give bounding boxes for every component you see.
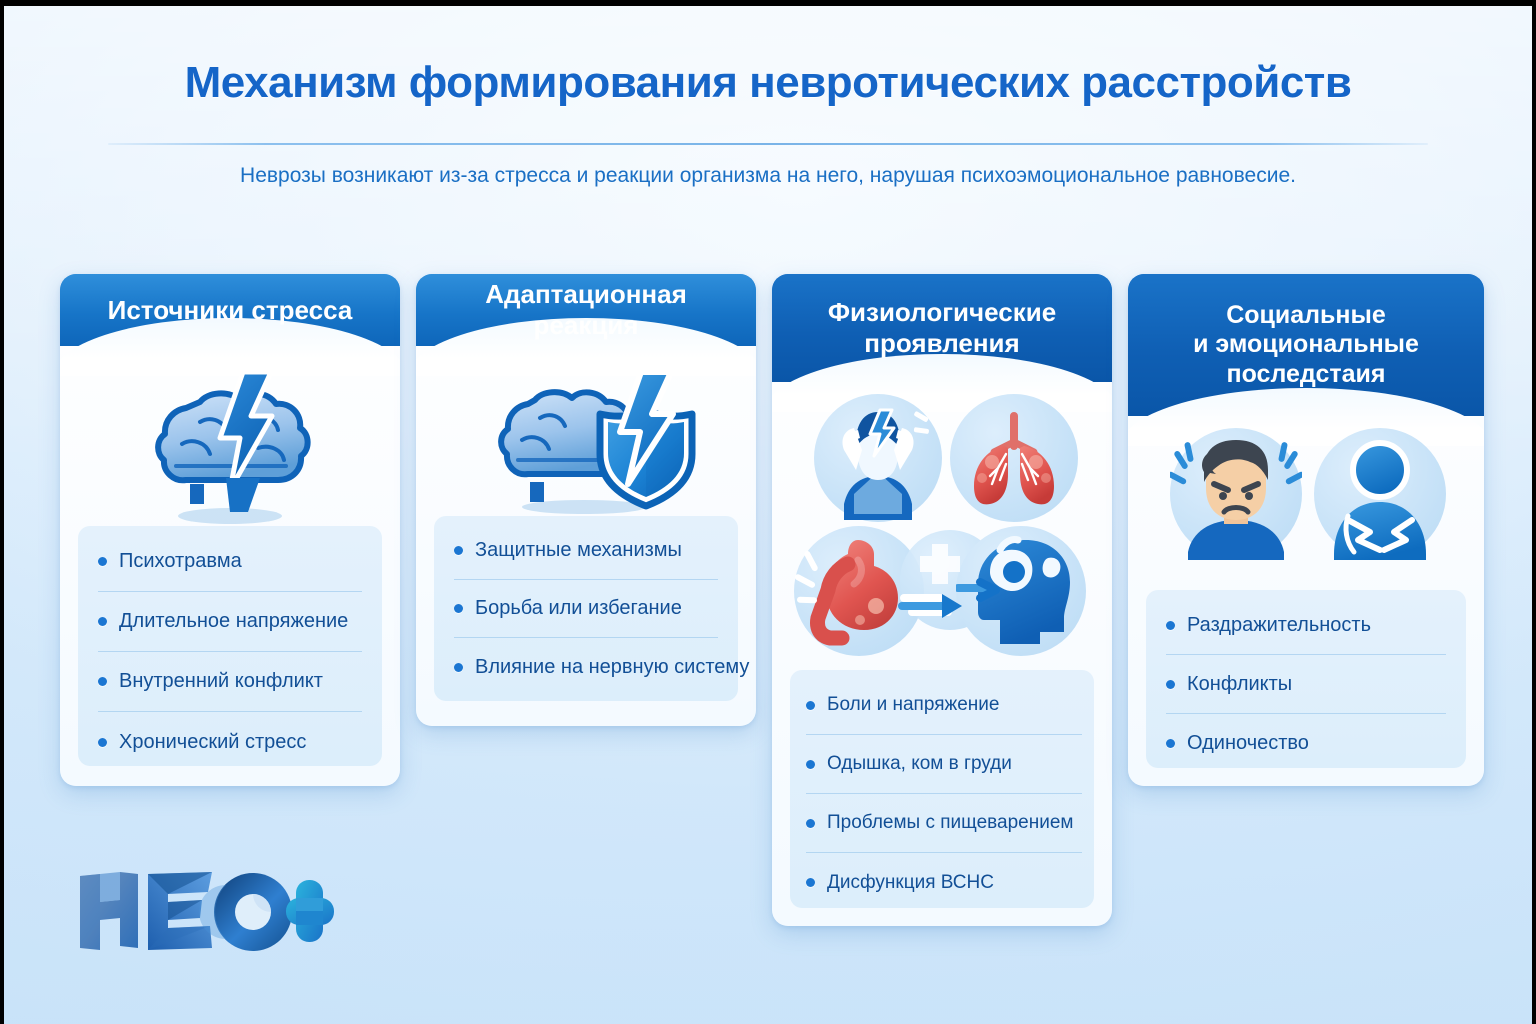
list-item-label: Хронический стресс (119, 731, 306, 754)
list-item-label: Конфликты (1187, 673, 1292, 696)
list-item[interactable]: Раздражительность (1166, 596, 1446, 655)
card-header-physiological-manifestations: Физиологические проявления (772, 274, 1112, 382)
headache-person-icon (814, 394, 942, 522)
bullet-dot-icon (98, 617, 107, 626)
list-item[interactable]: Дисфункция ВСНС (806, 853, 1082, 912)
icon-zone-adaptive-response (416, 366, 756, 516)
card-header-social-emotional-consequences: Социальные и эмоциональные последстаия (1128, 274, 1484, 416)
list-item-label: Раздражительность (1187, 614, 1371, 637)
list-item-label: Одиночество (1187, 732, 1309, 755)
icon-zone-physiological-manifestations (772, 394, 1112, 662)
card-title-line-2: и эмоциональные (1193, 330, 1419, 360)
bullet-dot-icon (454, 546, 463, 555)
list-item-label: Боли и напряжение (827, 694, 999, 716)
list-item[interactable]: Одиночество (1166, 714, 1446, 773)
lonely-person-icon (1314, 428, 1446, 560)
bullet-dot-icon (806, 760, 815, 769)
list-item-label: Защитные механизмы (475, 539, 682, 562)
card-adaptive-response[interactable]: Адаптационная реакция (416, 274, 756, 726)
icon-well-angry (1170, 428, 1302, 560)
list-item[interactable]: Внутренний конфликт (98, 652, 362, 712)
bullet-dot-icon (1166, 621, 1175, 630)
bullet-dot-icon (806, 701, 815, 710)
list-item-label: Проблемы с пищеварением (827, 812, 1073, 834)
list-panel-social-emotional-consequences: Раздражительность Конфликты Одиночество (1146, 590, 1466, 768)
icon-zone-social-emotional-consequences (1128, 428, 1484, 578)
bullet-dot-icon (98, 738, 107, 747)
list-item-label: Влияние на нервную систему (475, 656, 749, 679)
transition-arrows-group (898, 540, 986, 650)
bullet-dot-icon (454, 663, 463, 672)
list-item-label: Борьба или избегание (475, 597, 682, 620)
list-panel-physiological-manifestations: Боли и напряжение Одышка, ком в груди Пр… (790, 670, 1094, 908)
icon-well-headache (814, 394, 942, 522)
bullet-dot-icon (1166, 680, 1175, 689)
list-item[interactable]: Психотравма (98, 532, 362, 592)
bullet-dot-icon (98, 557, 107, 566)
list-item[interactable]: Защитные механизмы (454, 522, 718, 580)
bullet-dot-icon (806, 878, 815, 887)
neo-plus-logo-icon (76, 868, 336, 954)
bullet-dot-icon (806, 819, 815, 828)
card-title-line-2: проявления (864, 328, 1019, 359)
icon-well-lungs (950, 394, 1078, 522)
plus-arrows-icon (898, 540, 986, 650)
page-title: Механизм формирования невротических расс… (4, 58, 1532, 108)
brain-lightning-icon (130, 366, 330, 526)
bullet-dot-icon (1166, 739, 1175, 748)
list-item-label: Внутренний конфликт (119, 670, 323, 693)
list-item-label: Психотравма (119, 550, 242, 573)
list-panel-adaptive-response: Защитные механизмы Борьба или избегание … (434, 516, 738, 701)
card-title-line-1: Физиологические (828, 297, 1056, 328)
brain-shield-lightning-icon (466, 366, 706, 516)
list-item-label: Дисфункция ВСНС (827, 872, 994, 894)
icon-well-lonely (1314, 428, 1446, 560)
infographic-canvas: Механизм формирования невротических расс… (4, 6, 1532, 1024)
page-subtitle: Неврозы возникают из-за стресса и реакци… (4, 164, 1532, 188)
card-social-emotional-consequences[interactable]: Социальные и эмоциональные последстаия (1128, 274, 1484, 786)
lungs-icon (950, 394, 1078, 522)
list-item[interactable]: Борьба или избегание (454, 580, 718, 638)
icon-zone-sources-of-stress (60, 366, 400, 526)
list-item-label: Длительное напряжение (119, 610, 348, 633)
card-header-adaptive-response: Адаптационная реакция (416, 274, 756, 346)
list-item-label: Одышка, ком в груди (827, 753, 1012, 775)
card-title-text: Адаптационная реакция (430, 279, 742, 340)
brand-logo[interactable] (76, 868, 336, 954)
title-divider (108, 143, 1428, 145)
card-title-line-3: последстаия (1227, 360, 1386, 390)
list-item[interactable]: Длительное напряжение (98, 592, 362, 652)
card-header-sources-of-stress: Источники стресса (60, 274, 400, 346)
list-item[interactable]: Хронический стресс (98, 712, 362, 772)
list-item[interactable]: Боли и напряжение (806, 676, 1082, 735)
list-item[interactable]: Одышка, ком в груди (806, 735, 1082, 794)
bullet-dot-icon (98, 677, 107, 686)
list-panel-sources-of-stress: Психотравма Длительное напряжение Внутре… (78, 526, 382, 766)
list-item[interactable]: Конфликты (1166, 655, 1446, 714)
angry-face-icon (1170, 428, 1302, 560)
list-item[interactable]: Проблемы с пищеварением (806, 794, 1082, 853)
list-item[interactable]: Влияние на нервную систему (454, 638, 718, 696)
bullet-dot-icon (454, 604, 463, 613)
card-sources-of-stress[interactable]: Источники стресса (60, 274, 400, 786)
card-title-line-1: Социальные (1226, 301, 1386, 331)
card-physiological-manifestations[interactable]: Физиологические проявления (772, 274, 1112, 926)
card-title-text: Источники стресса (108, 295, 353, 326)
